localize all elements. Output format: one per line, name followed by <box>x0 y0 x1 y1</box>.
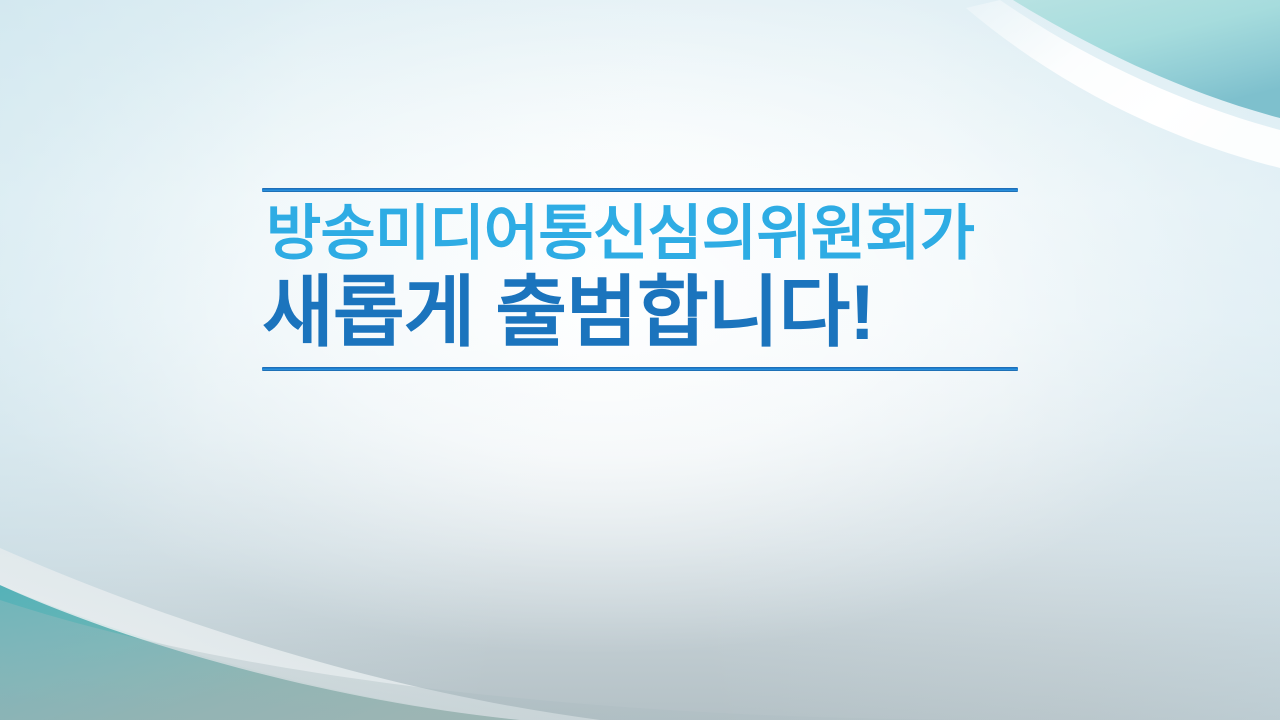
title-lines: 방송미디어통신심의위원회가 새롭게 출범합니다! <box>262 192 1018 367</box>
title-line-1: 방송미디어통신심의위원회가 <box>266 204 1018 264</box>
rule-bottom <box>262 367 1018 371</box>
title-block: 방송미디어통신심의위원회가 새롭게 출범합니다! <box>262 188 1018 371</box>
title-line-2: 새롭게 출범합니다! <box>262 273 1018 351</box>
title-slide: 방송미디어통신심의위원회가 새롭게 출범합니다! <box>0 0 1280 720</box>
